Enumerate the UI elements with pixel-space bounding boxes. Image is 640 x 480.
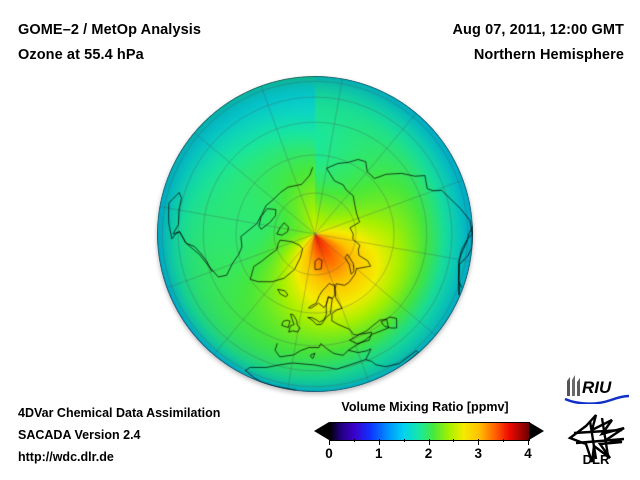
dlr-logo-icon: DLR <box>566 412 632 466</box>
globe-map <box>157 76 473 392</box>
dlr-logo: DLR <box>566 412 632 466</box>
colorbar-body <box>300 420 550 442</box>
svg-text:DLR: DLR <box>583 452 610 466</box>
globe-disc <box>157 76 473 392</box>
riu-logo-icon: RIU <box>561 374 631 404</box>
colorbar-tick-label: 4 <box>524 446 532 461</box>
colorbar-title: Volume Mixing Ratio [ppmv] <box>300 400 550 414</box>
colorbar-cap-low <box>314 422 329 440</box>
website-link: http://wdc.dlr.de <box>18 446 220 468</box>
colorbar-tick-label: 0 <box>325 446 333 461</box>
hemisphere-label: Northern Hemisphere <box>452 43 624 68</box>
timestamp-label: Aug 07, 2011, 12:00 GMT <box>452 18 624 43</box>
page-subtitle: Ozone at 55.4 hPa <box>18 43 201 68</box>
colorbar-tick-label: 2 <box>425 446 433 461</box>
ozone-analysis-figure: GOME–2 / MetOp Analysis Ozone at 55.4 hP… <box>0 0 640 480</box>
riu-logo: RIU <box>561 374 631 404</box>
version-label: SACADA Version 2.4 <box>18 424 220 446</box>
header-right: Aug 07, 2011, 12:00 GMT Northern Hemisph… <box>452 18 624 68</box>
method-label: 4DVar Chemical Data Assimilation <box>18 402 220 424</box>
colorbar-tick-label: 1 <box>375 446 383 461</box>
colorbar-ticks <box>329 439 530 445</box>
page-title: GOME–2 / MetOp Analysis <box>18 18 201 43</box>
colorbar-tick-labels: 01234 <box>300 446 550 464</box>
svg-text:RIU: RIU <box>582 378 612 397</box>
colorbar-cap-high <box>529 422 544 440</box>
colorbar-tick-label: 3 <box>474 446 482 461</box>
footer-credits: 4DVar Chemical Data Assimilation SACADA … <box>18 402 220 468</box>
header-left: GOME–2 / MetOp Analysis Ozone at 55.4 hP… <box>18 18 201 68</box>
colorbar: Volume Mixing Ratio [ppmv] 01234 <box>300 400 550 464</box>
ozone-field-canvas <box>157 76 473 392</box>
